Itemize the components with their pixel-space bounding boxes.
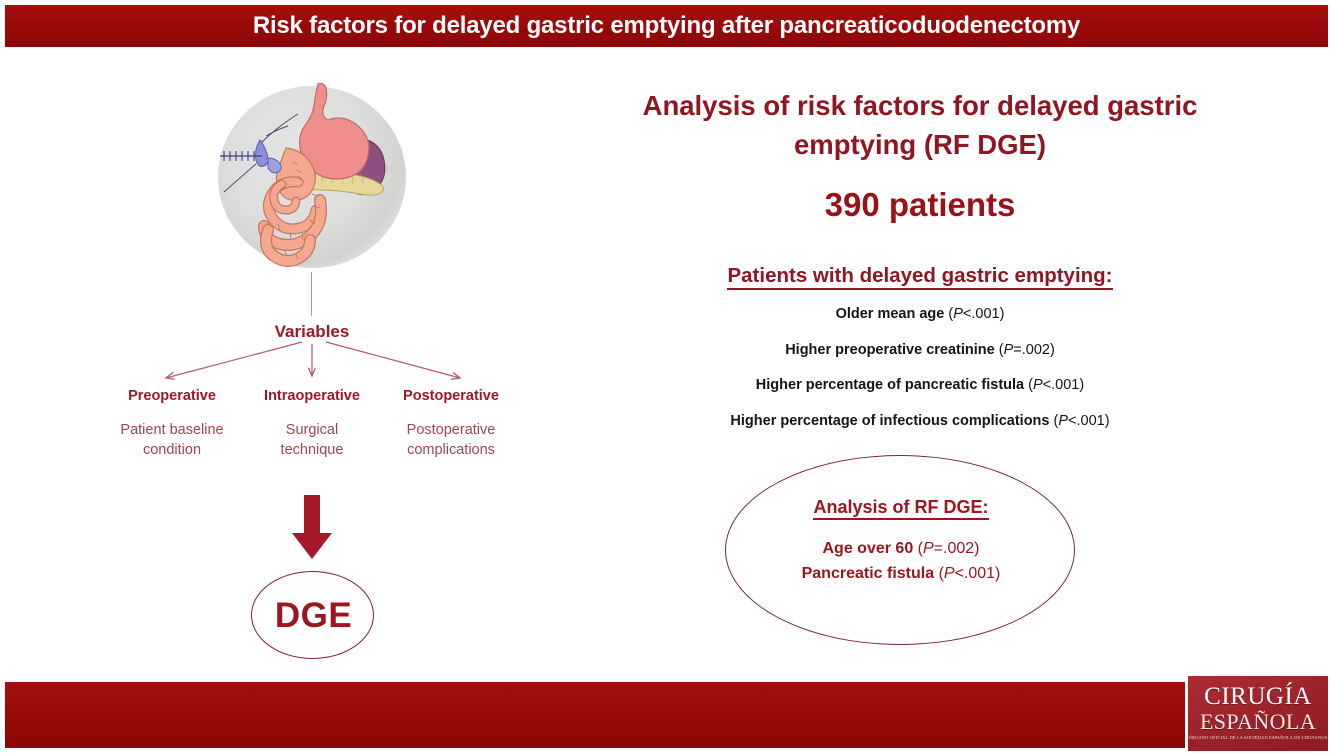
finding-pvalue: (P<.001) xyxy=(1028,377,1084,393)
conclusion-title-text: Analysis of RF DGE: xyxy=(813,497,988,520)
list-item: Age over 60 (P=.002) xyxy=(726,537,1076,562)
down-arrow-icon xyxy=(289,495,335,561)
finding-text: Higher percentage of infectious complica… xyxy=(730,413,1049,429)
conclusion-list: Age over 60 (P=.002) Pancreatic fistula … xyxy=(726,537,1076,587)
footer-bar xyxy=(5,682,1328,748)
journal-logo-line2: ESPAÑOLA xyxy=(1188,710,1328,733)
journal-logo: CIRUGÍA ESPAÑOLA ÓRGANO OFICIAL DE LA SO… xyxy=(1185,673,1331,754)
dge-label: DGE xyxy=(252,572,375,660)
finding-pvalue: (P=.002) xyxy=(999,342,1055,358)
figure-to-variables-connector xyxy=(311,272,312,316)
list-item: Higher percentage of pancreatic fistula … xyxy=(610,377,1230,393)
conclusion-title: Analysis of RF DGE: xyxy=(726,497,1076,518)
anatomy-diagram-icon xyxy=(208,78,416,270)
findings-list: Older mean age (P<.001) Higher preoperat… xyxy=(610,306,1230,448)
pancreaticoduodenectomy-anatomy-illustration xyxy=(208,78,416,270)
conclusion-item-pvalue: (P<.001) xyxy=(939,565,1001,582)
finding-pvalue: (P<.001) xyxy=(948,306,1004,322)
list-item: Older mean age (P<.001) xyxy=(610,306,1230,322)
finding-pvalue: (P<.001) xyxy=(1054,413,1110,429)
journal-logo-subtitle: ÓRGANO OFICIAL DE LA SOCIEDAD ESPAÑOLA D… xyxy=(1188,734,1328,739)
finding-text: Older mean age xyxy=(836,306,945,322)
journal-logo-line1: CIRUGÍA xyxy=(1188,684,1328,710)
branch-title: Postoperative xyxy=(365,388,537,404)
findings-heading-text: Patients with delayed gastric emptying: xyxy=(727,264,1112,290)
title-bar: Risk factors for delayed gastric emptyin… xyxy=(5,5,1328,47)
variables-branch-arrows xyxy=(130,338,500,388)
conclusion-item-text: Age over 60 xyxy=(823,540,914,557)
conclusion-ellipse: Analysis of RF DGE: Age over 60 (P=.002)… xyxy=(725,455,1075,645)
list-item: Pancreatic fistula (P<.001) xyxy=(726,562,1076,587)
conclusion-content: Analysis of RF DGE: Age over 60 (P=.002)… xyxy=(726,497,1076,587)
finding-text: Higher preoperative creatinine xyxy=(785,342,995,358)
branch-postoperative: Postoperative Postoperative complication… xyxy=(365,388,537,460)
list-item: Higher percentage of infectious complica… xyxy=(610,413,1230,429)
finding-text: Higher percentage of pancreatic fistula xyxy=(756,377,1024,393)
conclusion-item-text: Pancreatic fistula xyxy=(802,565,935,582)
analysis-heading: Analysis of risk factors for delayed gas… xyxy=(610,86,1230,164)
branch-description: Postoperative complications xyxy=(365,420,537,460)
page-title: Risk factors for delayed gastric emptyin… xyxy=(5,5,1328,47)
dge-outcome-circle: DGE xyxy=(251,571,374,659)
conclusion-item-pvalue: (P=.002) xyxy=(918,540,980,557)
patient-count: 390 patients xyxy=(610,186,1230,224)
list-item: Higher preoperative creatinine (P=.002) xyxy=(610,342,1230,358)
findings-heading: Patients with delayed gastric emptying: xyxy=(610,264,1230,288)
journal-logo-plate: CIRUGÍA ESPAÑOLA ÓRGANO OFICIAL DE LA SO… xyxy=(1188,676,1328,751)
